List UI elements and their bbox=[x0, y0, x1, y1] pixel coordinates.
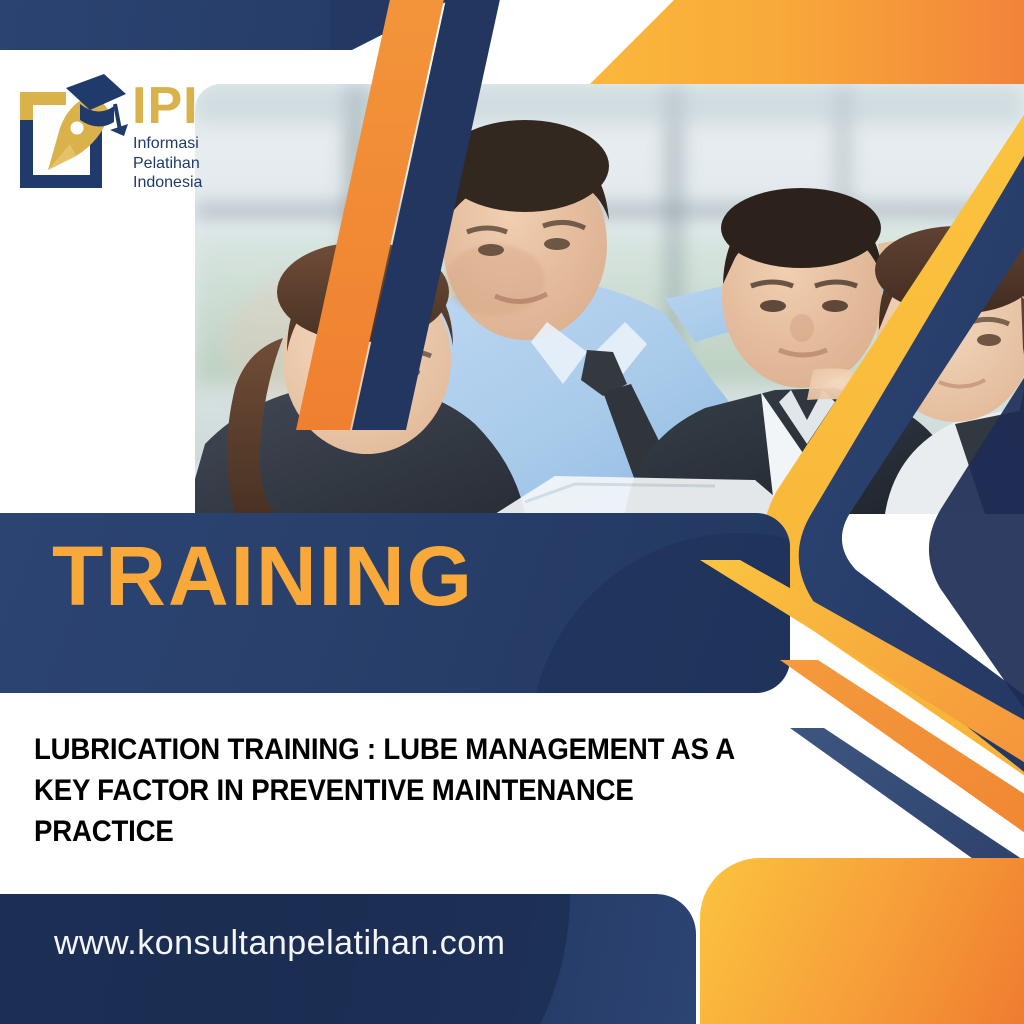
website-url[interactable]: www.konsultanpelatihan.com bbox=[54, 924, 505, 963]
promotional-poster: TRAINING LUBRICATION TRAINING : LUBE MAN… bbox=[0, 0, 1024, 1024]
logo-tagline: Informasi Pelatihan Indonesia bbox=[133, 134, 202, 193]
logo-tagline-line1: Informasi bbox=[133, 134, 202, 154]
orange-corner-block bbox=[700, 858, 1024, 1024]
amber-corner-block bbox=[590, 0, 1024, 84]
logo-tagline-line2: Pelatihan bbox=[133, 154, 202, 174]
training-headline: TRAINING bbox=[52, 534, 474, 618]
ipi-logo[interactable]: IPI Informasi Pelatihan Indonesia bbox=[14, 74, 214, 200]
pen-graduation-cap-icon bbox=[14, 74, 128, 192]
course-title: LUBRICATION TRAINING : LUBE MANAGEMENT A… bbox=[34, 730, 761, 852]
logo-initials: IPI bbox=[132, 80, 199, 132]
logo-tagline-line3: Indonesia bbox=[133, 173, 202, 193]
